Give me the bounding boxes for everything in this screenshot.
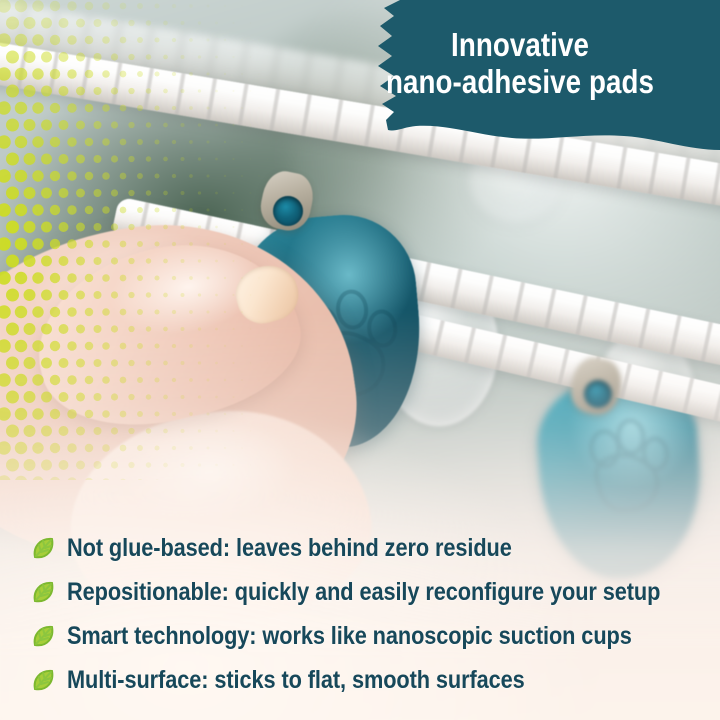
leaf-icon (30, 622, 58, 650)
list-item: Not glue-based: leaves behind zero resid… (30, 526, 710, 570)
list-item: Repositionable: quickly and easily recon… (30, 570, 710, 614)
rail-connector-eye-main (273, 196, 303, 226)
headline-line-1: Innovative (451, 26, 589, 63)
list-item: Multi-surface: sticks to flat, smooth su… (30, 658, 710, 702)
list-item: Smart technology: works like nanoscopic … (30, 614, 710, 658)
feature-list: Not glue-based: leaves behind zero resid… (30, 526, 710, 702)
list-item-label: Multi-surface: sticks to flat, smooth su… (67, 668, 525, 693)
list-item-label: Repositionable: quickly and easily recon… (67, 580, 660, 605)
leaf-icon (30, 666, 58, 694)
list-item-label: Not glue-based: leaves behind zero resid… (67, 536, 512, 561)
list-item-label: Smart technology: works like nanoscopic … (67, 624, 632, 649)
leaf-icon (30, 578, 58, 606)
headline-line-2: nano-adhesive pads (376, 63, 665, 100)
product-feature-graphic: Innovative nano-adhesive pads Not glue-b… (0, 0, 720, 720)
leaf-icon (30, 534, 58, 562)
headline-text: Innovative nano-adhesive pads (376, 26, 665, 101)
